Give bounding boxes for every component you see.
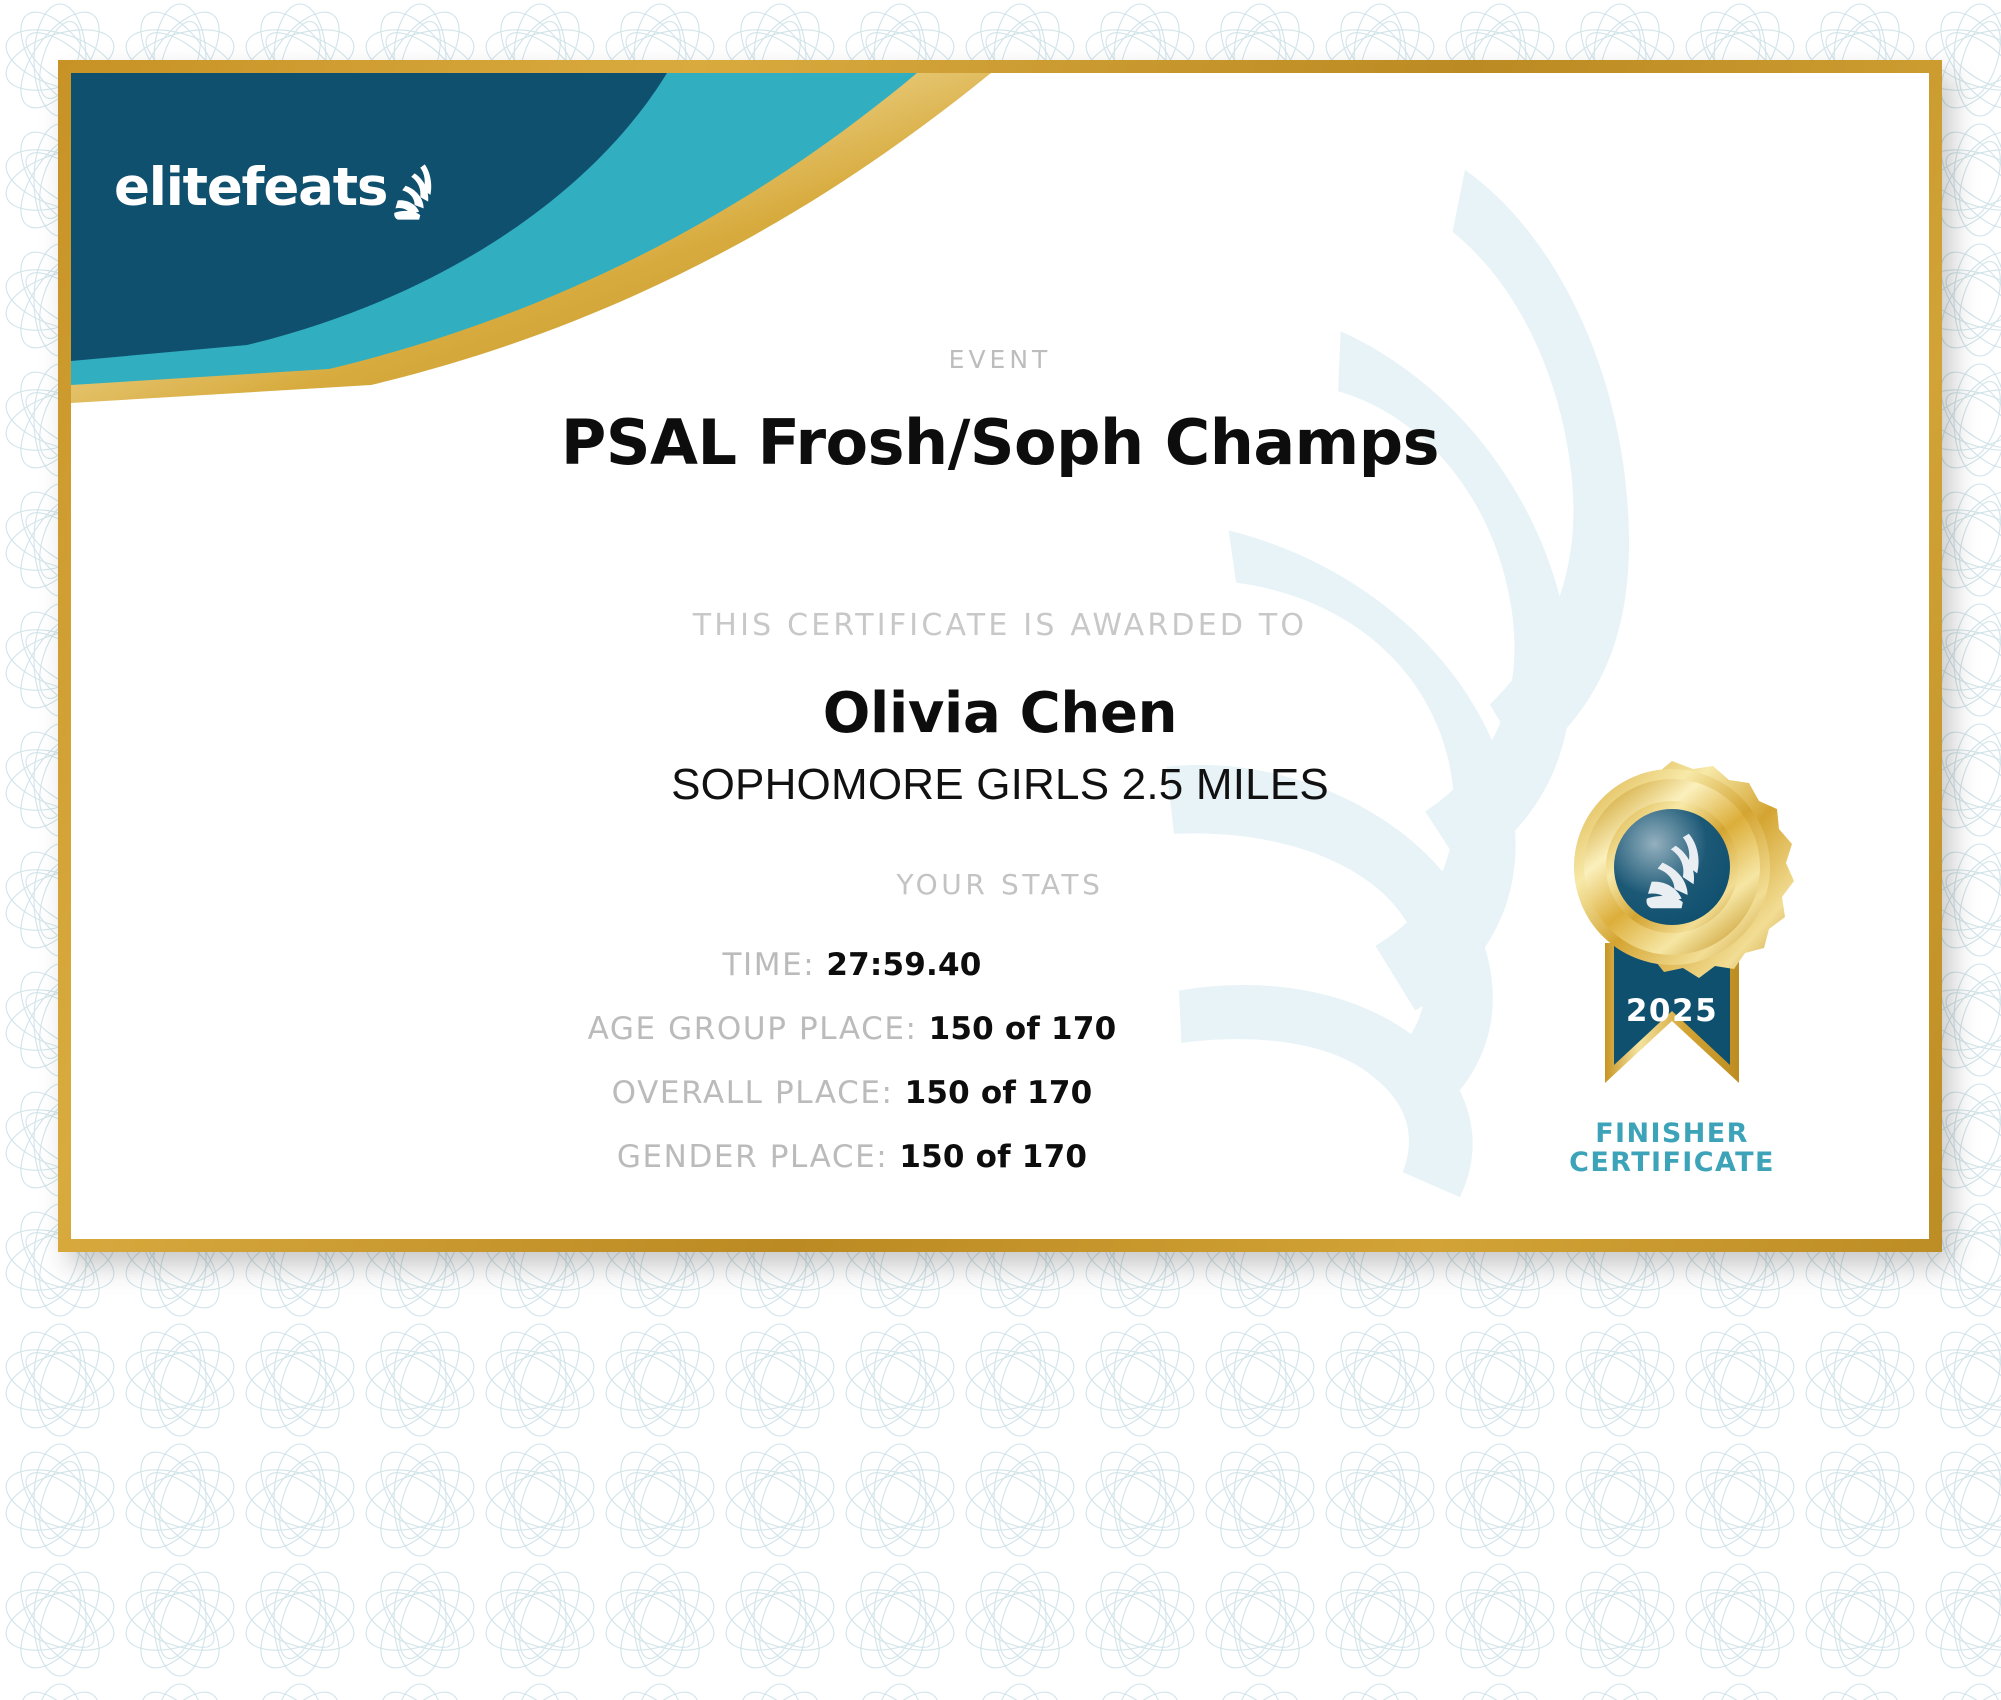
- winged-foot-icon: [389, 161, 447, 223]
- certificate-sheet: elitefeats EVENT: [71, 73, 1929, 1239]
- recipient-name: Olivia Chen: [71, 681, 1929, 746]
- badge-caption-line2: CERTIFICATE: [1527, 1148, 1817, 1177]
- stat-key: GENDER PLACE:: [617, 1139, 888, 1175]
- stat-row-overall-place: OVERALL PLACE: 150 of 170: [71, 1075, 1781, 1111]
- stat-row-time: TIME: 27:59.40: [71, 947, 1781, 983]
- gold-frame-border: elitefeats EVENT: [58, 60, 1942, 1252]
- medal-ribbon-graphic: 2025: [1527, 753, 1817, 1113]
- event-label: EVENT: [71, 345, 1929, 374]
- stat-key: TIME:: [722, 947, 815, 983]
- stat-key: AGE GROUP PLACE:: [588, 1011, 918, 1047]
- event-title: PSAL Frosh/Soph Champs: [71, 406, 1929, 479]
- stat-value: 150 of 170: [899, 1139, 1087, 1175]
- stat-row-age-group-place: AGE GROUP PLACE: 150 of 170: [71, 1011, 1781, 1047]
- finisher-badge: 2025 FINISHER CERTIFICATE: [1527, 753, 1817, 1177]
- stat-row-gender-place: GENDER PLACE: 150 of 170: [71, 1139, 1781, 1175]
- badge-caption: FINISHER CERTIFICATE: [1527, 1119, 1817, 1177]
- stat-value: 150 of 170: [905, 1075, 1093, 1111]
- stat-key: OVERALL PLACE:: [612, 1075, 894, 1111]
- event-block: EVENT PSAL Frosh/Soph Champs: [71, 345, 1929, 479]
- badge-year: 2025: [1626, 993, 1718, 1029]
- brand-logo: elitefeats: [114, 151, 447, 223]
- awarded-to-label: THIS CERTIFICATE IS AWARDED TO: [71, 608, 1929, 643]
- stat-value: 27:59.40: [826, 947, 981, 983]
- logo-wordmark: elitefeats: [114, 161, 387, 214]
- badge-caption-line1: FINISHER: [1527, 1119, 1817, 1148]
- stat-value: 150 of 170: [929, 1011, 1117, 1047]
- certificate-page: elitefeats EVENT: [0, 0, 2001, 1700]
